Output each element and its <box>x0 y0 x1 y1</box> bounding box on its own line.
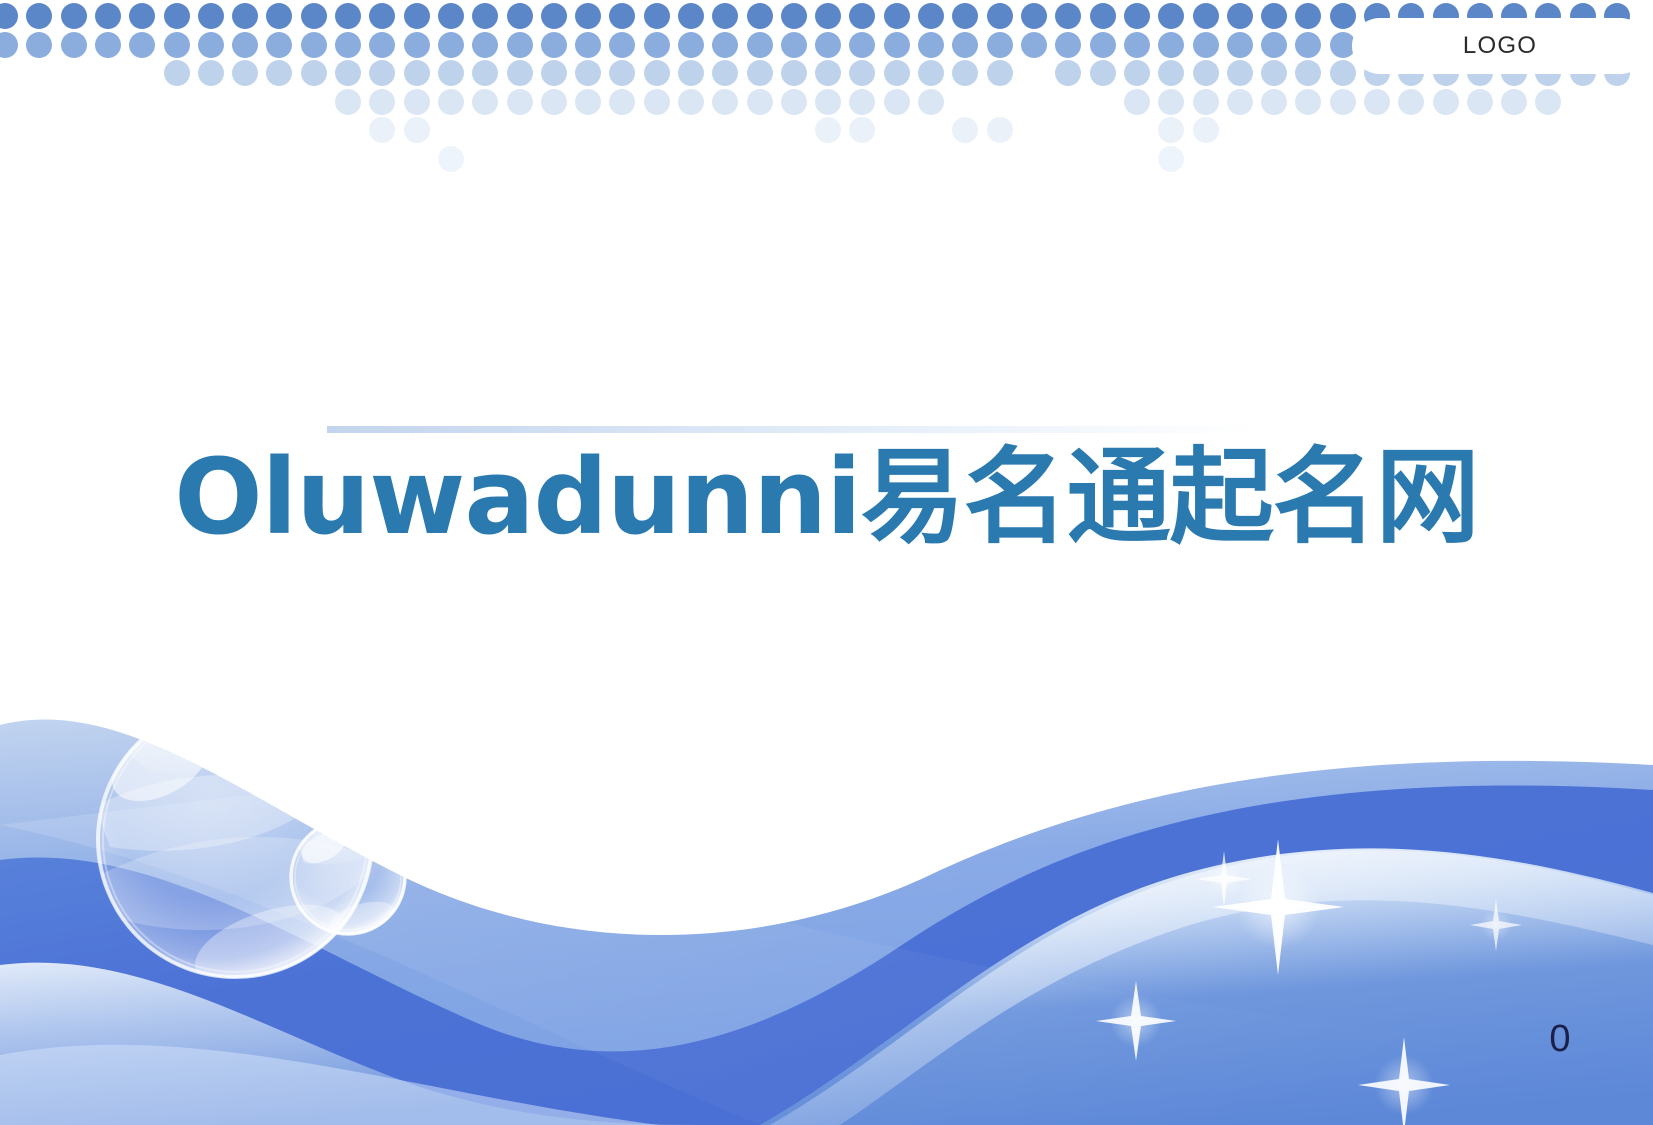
decorative-dot <box>1158 32 1184 58</box>
decorative-dot <box>1158 3 1184 29</box>
decorative-dot <box>781 3 807 29</box>
decorative-dot <box>95 32 121 58</box>
decorative-dot <box>164 3 190 29</box>
decorative-dot <box>952 60 978 86</box>
decorative-dot <box>747 32 773 58</box>
decorative-dot <box>849 117 875 143</box>
decorative-dot <box>1193 32 1219 58</box>
decorative-dot <box>987 3 1013 29</box>
decorative-dot <box>1021 3 1047 29</box>
decorative-dot <box>884 89 910 115</box>
decorative-dot <box>712 60 738 86</box>
decorative-dot <box>1227 89 1253 115</box>
decorative-dot <box>369 32 395 58</box>
decorative-dot <box>541 3 567 29</box>
decorative-dot <box>712 89 738 115</box>
decorative-dot <box>678 89 704 115</box>
decorative-dot <box>918 3 944 29</box>
decorative-dot <box>438 32 464 58</box>
decorative-dot <box>815 117 841 143</box>
decorative-dot <box>472 89 498 115</box>
decorative-dot <box>266 3 292 29</box>
decorative-dot <box>678 3 704 29</box>
decorative-dot <box>1295 32 1321 58</box>
decorative-dot <box>369 89 395 115</box>
decorative-dot <box>747 89 773 115</box>
decorative-dot <box>849 60 875 86</box>
decorative-dot <box>266 32 292 58</box>
decorative-dot <box>1295 60 1321 86</box>
decorative-dot <box>815 32 841 58</box>
page-number: 0 <box>1530 1018 1590 1061</box>
decorative-dot <box>747 3 773 29</box>
decorative-dot <box>952 117 978 143</box>
wave-artwork <box>0 625 1653 1125</box>
decorative-dot <box>884 60 910 86</box>
decorative-dot <box>1295 89 1321 115</box>
decorative-dot <box>952 3 978 29</box>
decorative-dot <box>438 3 464 29</box>
decorative-dot <box>164 60 190 86</box>
decorative-dot <box>918 60 944 86</box>
decorative-dot <box>747 60 773 86</box>
decorative-dot <box>335 60 361 86</box>
decorative-dot <box>26 3 52 29</box>
decorative-dot <box>1158 89 1184 115</box>
decorative-dot <box>884 3 910 29</box>
decorative-dot <box>198 32 224 58</box>
decorative-dot <box>404 89 430 115</box>
decorative-dot <box>404 32 430 58</box>
decorative-dot <box>1535 89 1561 115</box>
logo-label: LOGO <box>1463 32 1537 60</box>
decorative-dot <box>987 117 1013 143</box>
decorative-dot <box>507 3 533 29</box>
decorative-dot <box>301 32 327 58</box>
decorative-dot <box>198 3 224 29</box>
decorative-dot <box>0 32 18 58</box>
decorative-dot <box>781 89 807 115</box>
decorative-dot <box>644 32 670 58</box>
decorative-dot <box>781 32 807 58</box>
decorative-dot <box>541 60 567 86</box>
decorative-dot <box>335 3 361 29</box>
decorative-dot <box>1124 89 1150 115</box>
decorative-dot <box>95 3 121 29</box>
decorative-dot <box>987 32 1013 58</box>
decorative-dot <box>1193 60 1219 86</box>
decorative-dot <box>438 146 464 172</box>
decorative-dot <box>26 32 52 58</box>
decorative-dot <box>369 60 395 86</box>
decorative-dot <box>575 89 601 115</box>
decorative-dot <box>849 89 875 115</box>
decorative-dot <box>232 3 258 29</box>
decorative-dot <box>438 89 464 115</box>
decorative-dot <box>1261 60 1287 86</box>
decorative-dot <box>472 3 498 29</box>
decorative-dot <box>541 32 567 58</box>
decorative-dot <box>884 32 910 58</box>
decorative-dot <box>918 89 944 115</box>
decorative-dot <box>1193 89 1219 115</box>
decorative-dot <box>541 89 567 115</box>
decorative-dot <box>1055 60 1081 86</box>
decorative-dot <box>129 32 155 58</box>
decorative-dot <box>1364 89 1390 115</box>
decorative-dot <box>1158 60 1184 86</box>
decorative-dot <box>849 32 875 58</box>
decorative-dot <box>575 60 601 86</box>
decorative-dot <box>1261 3 1287 29</box>
decorative-dot <box>609 89 635 115</box>
decorative-dot <box>232 60 258 86</box>
decorative-dot <box>232 32 258 58</box>
slide-title: Oluwadunni易名通起名网 <box>0 440 1653 554</box>
decorative-dot <box>472 32 498 58</box>
title-divider-rule <box>327 426 1261 433</box>
decorative-dot <box>1055 3 1081 29</box>
decorative-dot <box>1227 60 1253 86</box>
decorative-dot <box>712 3 738 29</box>
decorative-dot <box>1124 32 1150 58</box>
decorative-dot <box>1158 117 1184 143</box>
decorative-dot <box>335 89 361 115</box>
decorative-dot <box>1467 89 1493 115</box>
decorative-dot <box>507 60 533 86</box>
slide-canvas: LOGO Oluwadunni易名通起名网 <box>0 0 1653 1125</box>
decorative-dot <box>507 32 533 58</box>
decorative-dot <box>678 32 704 58</box>
decorative-dot <box>1090 3 1116 29</box>
decorative-dot <box>1501 89 1527 115</box>
decorative-dot <box>0 3 18 29</box>
decorative-dot <box>644 89 670 115</box>
decorative-dot <box>1261 32 1287 58</box>
decorative-dot <box>369 117 395 143</box>
decorative-dot <box>472 60 498 86</box>
decorative-dot <box>678 60 704 86</box>
decorative-dot <box>1021 32 1047 58</box>
decorative-dot <box>815 89 841 115</box>
decorative-dot <box>987 60 1013 86</box>
decorative-dot <box>849 3 875 29</box>
decorative-dot <box>1124 3 1150 29</box>
decorative-dot <box>404 3 430 29</box>
decorative-dot <box>575 3 601 29</box>
decorative-dot <box>952 32 978 58</box>
decorative-dot <box>644 60 670 86</box>
decorative-dot <box>1261 89 1287 115</box>
decorative-dot <box>1227 32 1253 58</box>
decorative-dot <box>301 3 327 29</box>
decorative-dot <box>1433 89 1459 115</box>
decorative-dot <box>1398 89 1424 115</box>
decorative-dot <box>1090 60 1116 86</box>
decorative-dot <box>1193 117 1219 143</box>
decorative-dot <box>301 60 327 86</box>
decorative-dot <box>1124 60 1150 86</box>
decorative-dot <box>1227 3 1253 29</box>
decorative-dot <box>61 3 87 29</box>
decorative-dot <box>575 32 601 58</box>
decorative-dot <box>1193 3 1219 29</box>
decorative-dot <box>266 60 292 86</box>
decorative-dot <box>609 60 635 86</box>
decorative-dot <box>507 89 533 115</box>
decorative-dot <box>815 60 841 86</box>
decorative-dot <box>404 60 430 86</box>
decorative-dot <box>918 32 944 58</box>
decorative-dot <box>61 32 87 58</box>
logo-placeholder[interactable]: LOGO <box>1352 18 1648 74</box>
decorative-dot <box>609 3 635 29</box>
decorative-dot <box>1090 32 1116 58</box>
decorative-dot <box>1055 32 1081 58</box>
decorative-dot <box>198 60 224 86</box>
decorative-dot <box>609 32 635 58</box>
decorative-dot <box>1330 89 1356 115</box>
decorative-dot <box>1295 3 1321 29</box>
decorative-dot <box>781 60 807 86</box>
decorative-dot <box>815 3 841 29</box>
decorative-dot <box>1158 146 1184 172</box>
decorative-dot <box>712 32 738 58</box>
decorative-dot <box>404 117 430 143</box>
decorative-dot <box>164 32 190 58</box>
decorative-dot <box>335 32 361 58</box>
decorative-dot <box>369 3 395 29</box>
decorative-dot <box>438 60 464 86</box>
decorative-dot <box>129 3 155 29</box>
decorative-dot <box>644 3 670 29</box>
